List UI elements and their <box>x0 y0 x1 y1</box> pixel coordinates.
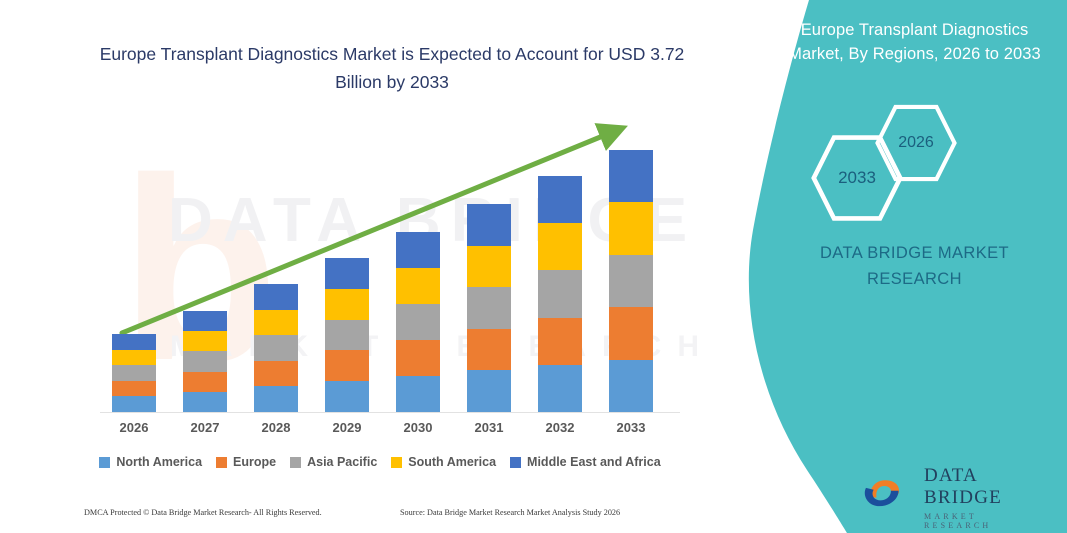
bar-2028[interactable] <box>254 284 298 412</box>
legend-item-north-america[interactable]: North America <box>99 455 202 469</box>
bar-segment-south-america[interactable] <box>183 331 227 351</box>
bar-segment-north-america[interactable] <box>609 360 653 412</box>
bar-segment-europe[interactable] <box>183 372 227 392</box>
legend-swatch-icon <box>216 457 227 468</box>
right-teal-panel: Europe Transplant Diagnostics Market, By… <box>687 0 1067 533</box>
dbmr-logo: DATA BRIDGE MARKET RESEARCH <box>860 459 1045 511</box>
bar-segment-middle-east-and-africa[interactable] <box>609 150 653 202</box>
panel-title: Europe Transplant Diagnostics Market, By… <box>772 18 1057 66</box>
bar-segment-asia-pacific[interactable] <box>467 287 511 329</box>
bar-segment-europe[interactable] <box>254 361 298 387</box>
legend-swatch-icon <box>391 457 402 468</box>
bar-segment-north-america[interactable] <box>538 365 582 412</box>
x-axis-labels: 20262027202820292030203120322033 <box>0 420 760 446</box>
dbmr-logo-mark-icon <box>860 461 918 509</box>
hexagon-badge-2026-label: 2026 <box>898 134 934 152</box>
hexagon-badge-2033-label: 2033 <box>838 168 876 188</box>
chart-plot-area <box>0 0 760 470</box>
legend-swatch-icon <box>99 457 110 468</box>
legend-swatch-icon <box>290 457 301 468</box>
bar-segment-north-america[interactable] <box>467 370 511 412</box>
x-axis-label-2032: 2032 <box>530 420 590 435</box>
bar-segment-asia-pacific[interactable] <box>538 270 582 317</box>
bar-segment-north-america[interactable] <box>254 386 298 412</box>
legend-item-europe[interactable]: Europe <box>216 455 276 469</box>
x-axis-label-2033: 2033 <box>601 420 661 435</box>
bar-segment-south-america[interactable] <box>609 202 653 254</box>
panel-brand-text: DATA BRIDGE MARKET RESEARCH <box>772 240 1057 292</box>
bar-segment-middle-east-and-africa[interactable] <box>538 176 582 223</box>
panel-brand-line2: RESEARCH <box>772 266 1057 292</box>
bar-segment-middle-east-and-africa[interactable] <box>396 232 440 268</box>
legend-label: Asia Pacific <box>307 455 377 469</box>
bar-segment-north-america[interactable] <box>396 376 440 412</box>
bar-segment-south-america[interactable] <box>467 246 511 288</box>
bar-segment-europe[interactable] <box>467 329 511 371</box>
dbmr-logo-name: DATA BRIDGE <box>924 465 1045 509</box>
bar-segment-europe[interactable] <box>112 381 156 397</box>
bar-2031[interactable] <box>467 204 511 412</box>
bar-2033[interactable] <box>609 150 653 412</box>
bar-segment-asia-pacific[interactable] <box>396 304 440 340</box>
bar-segment-middle-east-and-africa[interactable] <box>467 204 511 246</box>
bar-segment-north-america[interactable] <box>183 392 227 412</box>
footer: DMCA Protected © Data Bridge Market Rese… <box>0 508 760 528</box>
x-axis-label-2026: 2026 <box>104 420 164 435</box>
legend-item-asia-pacific[interactable]: Asia Pacific <box>290 455 377 469</box>
bar-2027[interactable] <box>183 311 227 412</box>
bar-2029[interactable] <box>325 258 369 412</box>
bar-2030[interactable] <box>396 232 440 412</box>
x-axis-label-2031: 2031 <box>459 420 519 435</box>
footer-copyright: DMCA Protected © Data Bridge Market Rese… <box>84 508 322 517</box>
legend-label: North America <box>116 455 202 469</box>
bar-segment-asia-pacific[interactable] <box>325 320 369 351</box>
legend-label: Middle East and Africa <box>527 455 661 469</box>
bar-segment-middle-east-and-africa[interactable] <box>112 334 156 350</box>
bar-segment-asia-pacific[interactable] <box>254 335 298 361</box>
bar-segment-north-america[interactable] <box>325 381 369 412</box>
bar-segment-europe[interactable] <box>609 307 653 359</box>
bar-segment-middle-east-and-africa[interactable] <box>254 284 298 310</box>
bar-segment-south-america[interactable] <box>112 350 156 366</box>
x-axis-label-2028: 2028 <box>246 420 306 435</box>
dbmr-logo-tagline: MARKET RESEARCH <box>924 512 1045 530</box>
x-axis-label-2027: 2027 <box>175 420 235 435</box>
bar-segment-europe[interactable] <box>325 350 369 381</box>
legend-item-middle-east-and-africa[interactable]: Middle East and Africa <box>510 455 661 469</box>
footer-source: Source: Data Bridge Market Research Mark… <box>400 508 620 517</box>
hexagon-badge-2033: 2033 <box>811 132 903 224</box>
bar-segment-europe[interactable] <box>396 340 440 376</box>
bar-2032[interactable] <box>538 176 582 412</box>
panel-brand-line1: DATA BRIDGE MARKET <box>772 240 1057 266</box>
x-axis-label-2029: 2029 <box>317 420 377 435</box>
bar-segment-north-america[interactable] <box>112 396 156 412</box>
legend-label: South America <box>408 455 496 469</box>
bar-segment-middle-east-and-africa[interactable] <box>325 258 369 289</box>
legend-item-south-america[interactable]: South America <box>391 455 496 469</box>
bar-segment-south-america[interactable] <box>254 310 298 336</box>
legend-swatch-icon <box>510 457 521 468</box>
bar-segment-south-america[interactable] <box>396 268 440 304</box>
bar-segment-south-america[interactable] <box>538 223 582 270</box>
bar-segment-asia-pacific[interactable] <box>112 365 156 381</box>
bar-segment-asia-pacific[interactable] <box>183 351 227 371</box>
chart-legend: North AmericaEuropeAsia PacificSouth Ame… <box>0 455 760 469</box>
bar-segment-asia-pacific[interactable] <box>609 255 653 307</box>
legend-label: Europe <box>233 455 276 469</box>
x-axis-label-2030: 2030 <box>388 420 448 435</box>
slide-root: b DATA BRIDGE MARKET RESEARCH Europe Tra… <box>0 0 1067 533</box>
hexagon-badges: 2026 2033 <box>797 100 1037 225</box>
bar-segment-middle-east-and-africa[interactable] <box>183 311 227 331</box>
bar-segment-europe[interactable] <box>538 318 582 365</box>
bar-segment-south-america[interactable] <box>325 289 369 320</box>
bar-2026[interactable] <box>112 334 156 412</box>
